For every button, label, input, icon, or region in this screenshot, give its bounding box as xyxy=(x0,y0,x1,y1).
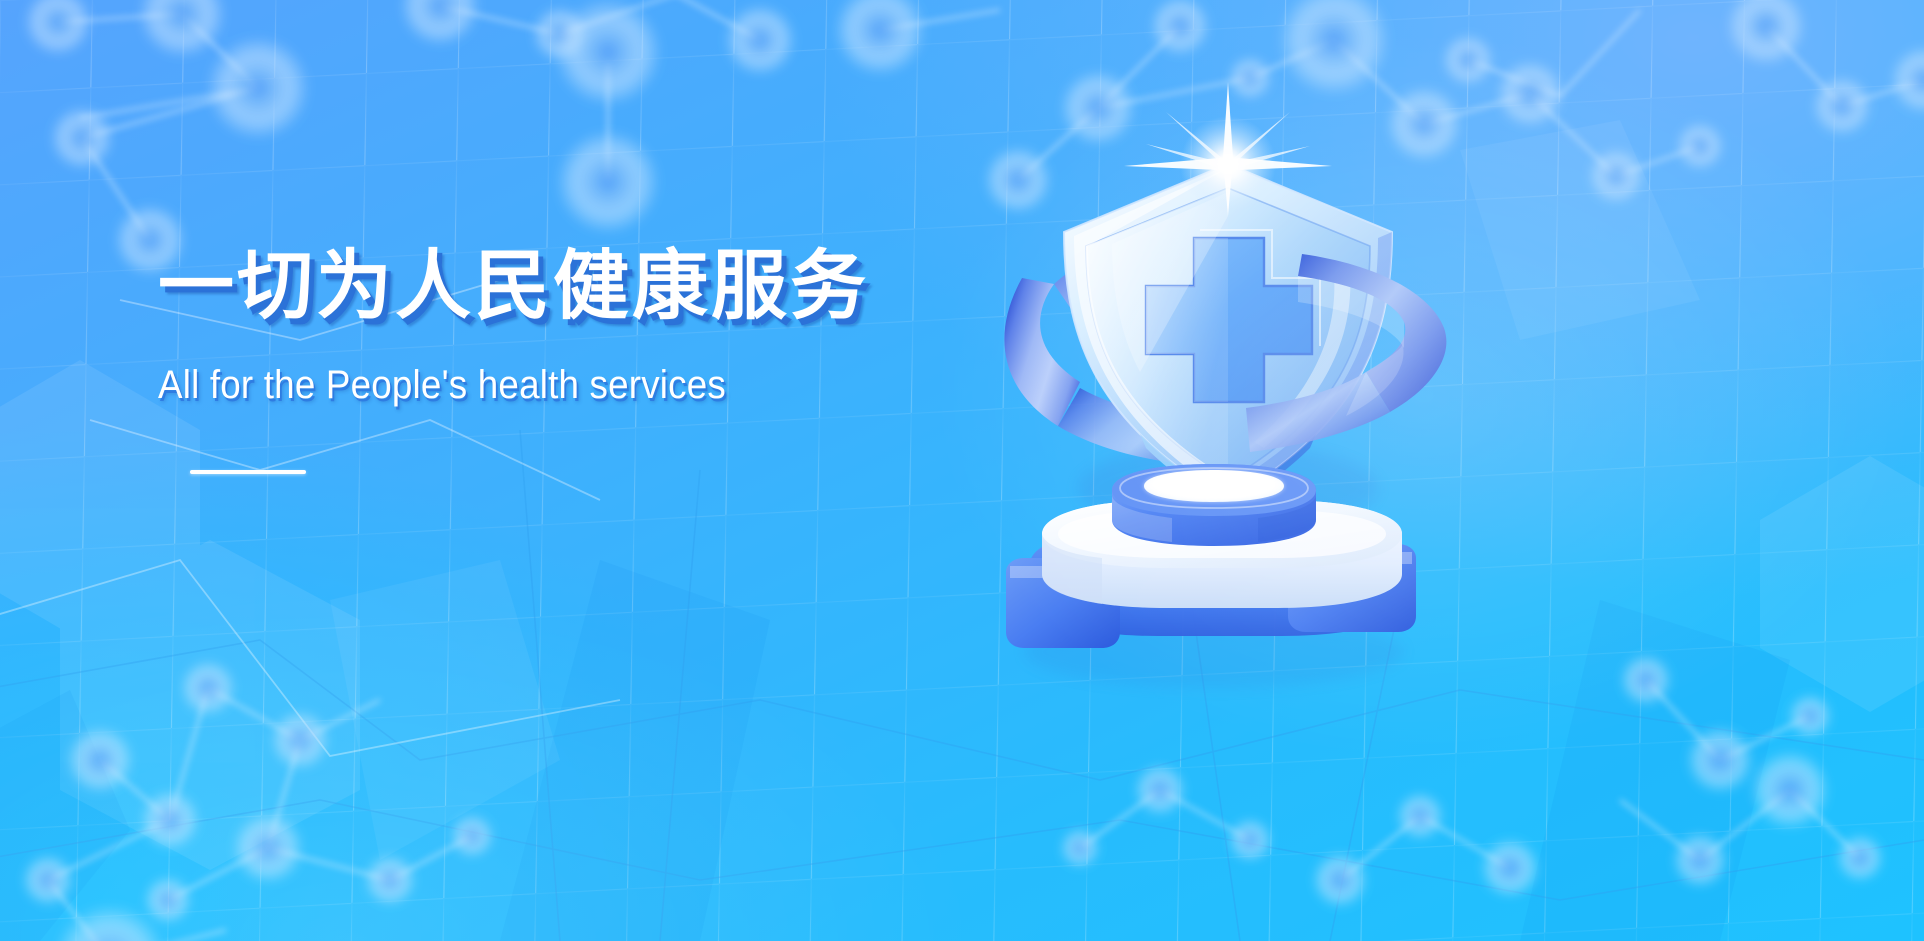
page-title: 一切为人民健康服务 xyxy=(158,244,938,329)
glowing-core-panel xyxy=(1144,470,1284,502)
title-divider xyxy=(190,470,306,474)
health-banner: 一切为人民健康服务 All for the People's health se… xyxy=(0,0,1924,941)
page-subtitle: All for the People's health services xyxy=(158,363,876,408)
medical-shield-illustration xyxy=(962,96,1492,696)
banner-text-block: 一切为人民健康服务 All for the People's health se… xyxy=(158,244,938,474)
